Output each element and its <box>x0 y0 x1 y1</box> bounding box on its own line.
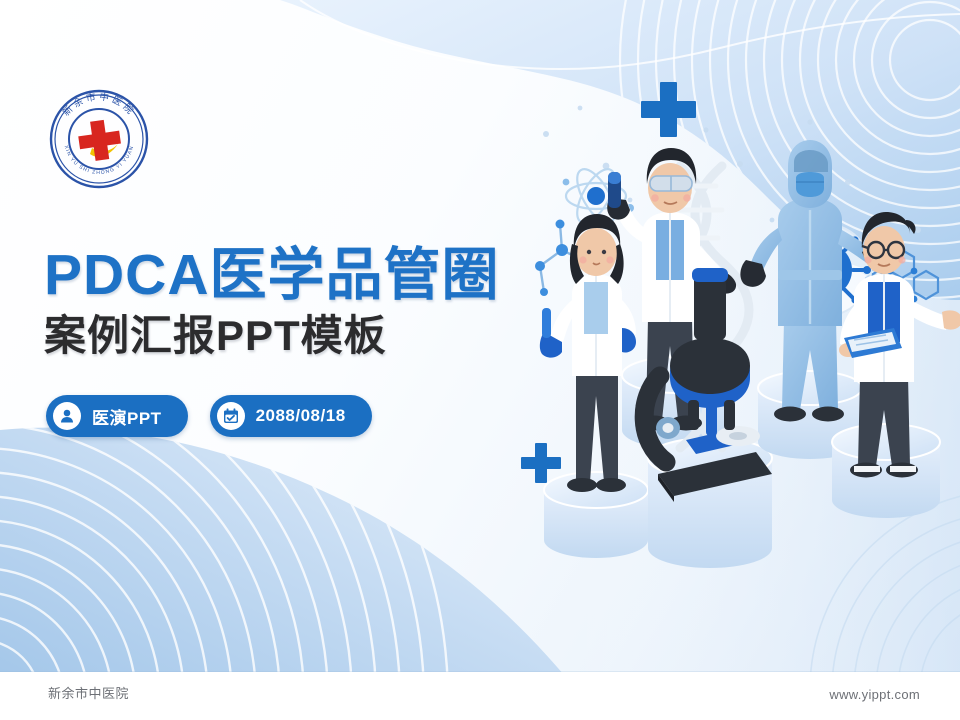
hospital-logo: 新余市中医院 XIN YU SHI ZHONG YI YUAN <box>48 88 150 190</box>
footer-divider <box>0 671 960 672</box>
footer-website[interactable]: www.yippt.com <box>829 687 920 702</box>
user-icon <box>53 402 81 430</box>
date-badge[interactable]: 2088/08/18 <box>210 395 372 437</box>
plus-icon-bottom-left <box>521 443 561 483</box>
presentation-slide: 新余市中医院 XIN YU SHI ZHONG YI YUAN PDCA医学品管… <box>0 0 960 720</box>
page-subtitle: 案例汇报PPT模板 <box>44 313 387 358</box>
plus-icon-large <box>641 82 696 137</box>
calendar-icon <box>217 402 245 430</box>
meta-badge-row: 医演PPT 2088/08/18 <box>46 395 372 437</box>
footer-organization: 新余市中医院 <box>48 683 129 702</box>
medical-science-illustration <box>510 70 960 580</box>
pedestal-5 <box>832 424 940 518</box>
author-badge-label: 医演PPT <box>92 404 162 429</box>
date-badge-label: 2088/08/18 <box>256 406 346 426</box>
footer-bar <box>0 672 960 720</box>
page-title: PDCA医学品管圈 <box>44 246 500 305</box>
atom-nucleus <box>587 187 605 205</box>
author-badge[interactable]: 医演PPT <box>46 395 188 437</box>
goggles-icon <box>650 176 692 191</box>
hospital-seal-icon: 新余市中医院 XIN YU SHI ZHONG YI YUAN <box>48 88 150 190</box>
